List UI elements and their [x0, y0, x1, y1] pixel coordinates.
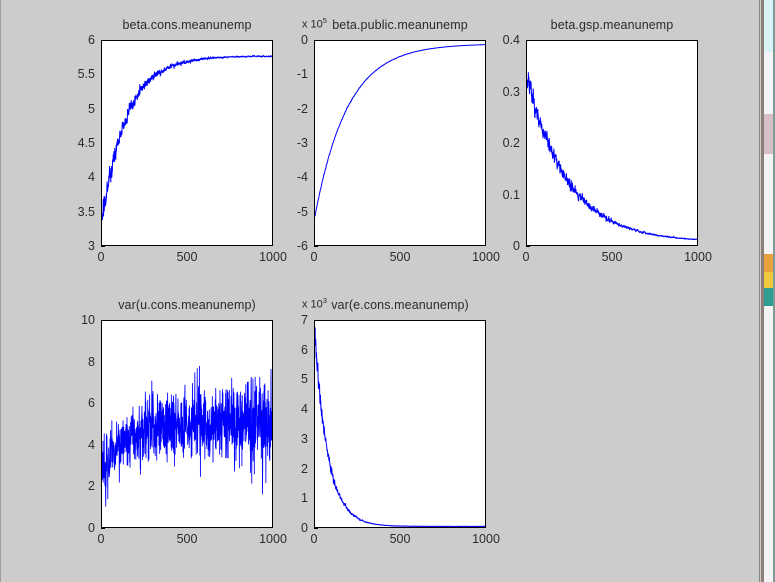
y-tick-label: 1: [268, 491, 308, 505]
sliver-band: [764, 154, 773, 254]
sliver-band: [764, 52, 773, 114]
sliver-icon-orange[interactable]: [764, 254, 773, 272]
sliver-icon-yellow[interactable]: [764, 272, 773, 288]
trace-canvas-var-e-cons-meanunemp: [315, 321, 485, 527]
sliver-band: [764, 114, 773, 154]
x-tick-label: 500: [390, 532, 411, 546]
y-tick-label: 5: [268, 372, 308, 386]
sliver-icon-teal[interactable]: [764, 288, 773, 306]
sliver-band: [764, 306, 773, 582]
background-window-sliver[interactable]: [759, 0, 775, 582]
plot-area-var-e-cons-meanunemp[interactable]: [314, 320, 486, 528]
x-tick-label: 0: [311, 532, 318, 546]
sliver-band: [764, 0, 773, 52]
y-tick-label: 7: [268, 313, 308, 327]
y-tick-label: 4: [268, 402, 308, 416]
x-tick-label: 1000: [472, 532, 500, 546]
multiplier-base: x 10: [302, 299, 323, 311]
matlab-figure-window: beta.cons.meanunemp33.544.555.5605001000…: [0, 0, 761, 582]
y-tick-mark: [314, 528, 318, 529]
y-tick-label: 0: [268, 521, 308, 535]
sliver-edge: [761, 0, 764, 582]
y-tick-label: 6: [268, 343, 308, 357]
y-axis-multiplier-var-e-cons-meanunemp: x 103: [302, 296, 327, 311]
multiplier-exponent: 3: [323, 296, 327, 305]
y-tick-label: 3: [268, 432, 308, 446]
plot-title-var-e-cons-meanunemp: var(e.cons.meanunemp): [331, 298, 469, 312]
plot-panel-var-e-cons-meanunemp: var(e.cons.meanunemp)x 10301234567050010…: [1, 0, 761, 582]
y-tick-label: 2: [268, 462, 308, 476]
